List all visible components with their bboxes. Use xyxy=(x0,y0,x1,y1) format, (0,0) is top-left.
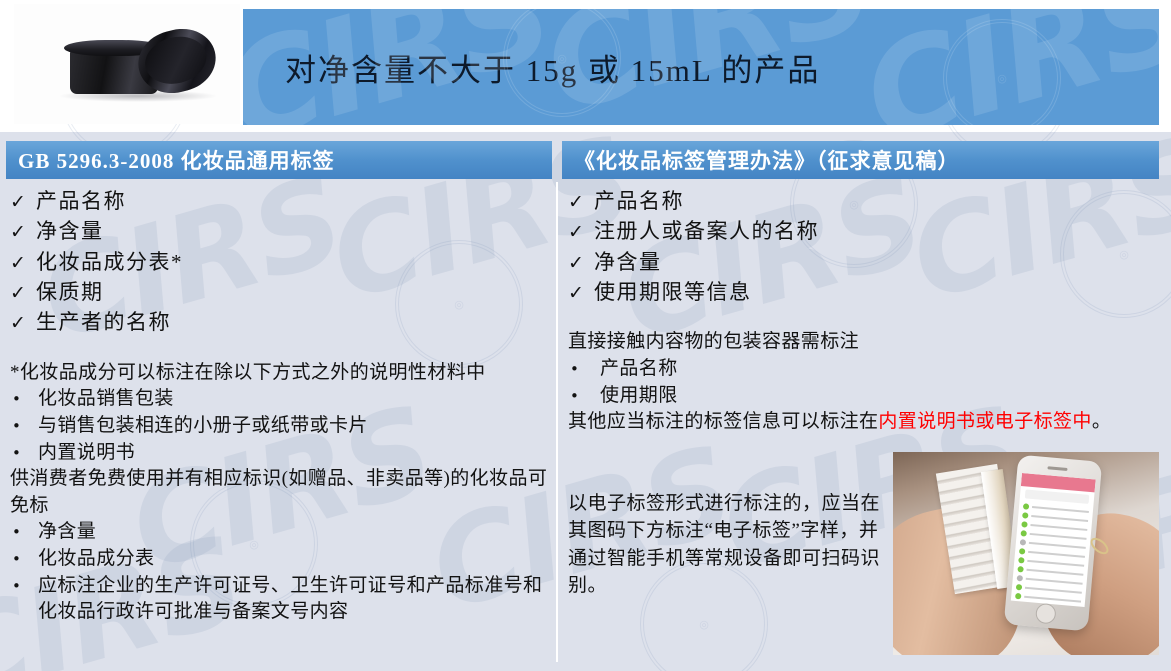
right-other-info-prefix: 其他应当标注的标签信息可以标注在 xyxy=(568,411,878,432)
list-item-label: 产品名称 xyxy=(36,186,126,216)
list-item: • 使用期限 xyxy=(568,383,1158,410)
list-item: • 与销售包装相连的小册子或纸带或卡片 xyxy=(10,413,550,440)
left-note-bullets: • 化妆品销售包装 • 与销售包装相连的小册子或纸带或卡片 • 内置说明书 xyxy=(10,386,550,466)
list-item: ✓ 化妆品成分表* xyxy=(10,247,550,277)
left-check-list: ✓ 产品名称 ✓ 净含量 ✓ 化妆品成分表* ✓ 保质期 ✓ 生产者的名称 xyxy=(10,186,550,338)
bullet-icon: • xyxy=(10,443,38,464)
right-check-list: ✓ 产品名称 ✓ 注册人或备案人的名称 ✓ 净含量 ✓ 使用期限等信息 xyxy=(568,186,1158,307)
right-column-header-text: 《化妆品标签管理办法》（征求意见稿） xyxy=(562,145,960,175)
list-item: ✓ 产品名称 xyxy=(568,186,1158,216)
phone-speaker xyxy=(1047,466,1067,471)
status-dot-icon xyxy=(1019,548,1026,555)
column-divider xyxy=(556,182,558,662)
slide-root: CIRS CIRS CIRS CIRS CIRS CIRS CIRS CIRS … xyxy=(0,0,1171,671)
check-icon: ✓ xyxy=(568,189,594,216)
right-other-info-highlight: 内置说明书或电子标签中 xyxy=(878,411,1091,432)
phone-screen xyxy=(1011,473,1096,607)
check-icon: ✓ xyxy=(10,280,36,307)
list-item-label: 内置说明书 xyxy=(38,440,550,467)
check-icon: ✓ xyxy=(568,219,594,246)
check-icon: ✓ xyxy=(10,219,36,246)
status-dot-icon xyxy=(1014,601,1021,607)
list-item-label: 与销售包装相连的小册子或纸带或卡片 xyxy=(38,413,550,440)
list-item-label: 使用期限等信息 xyxy=(594,277,752,307)
status-dot-icon xyxy=(1018,557,1025,564)
bullet-icon: • xyxy=(10,549,38,570)
left-exempt-intro: 供消费者免费使用并有相应标识(如赠品、非卖品等)的化妆品可免标 xyxy=(10,466,550,519)
right-column-body: ✓ 产品名称 ✓ 注册人或备案人的名称 ✓ 净含量 ✓ 使用期限等信息 直接接触… xyxy=(568,186,1158,436)
list-item: ✓ 生产者的名称 xyxy=(10,307,550,337)
page-title: 对净含量不大于 15g 或 15mL 的产品 xyxy=(243,45,820,90)
list-item-label: 应标注企业的生产许可证号、卫生许可证号和产品标准号和化妆品行政许可批准与备案文号… xyxy=(38,573,550,626)
phone-scan-photo xyxy=(893,452,1159,655)
check-icon: ✓ xyxy=(10,250,36,277)
list-item-label: 注册人或备案人的名称 xyxy=(594,216,819,246)
list-item: • 化妆品销售包装 xyxy=(10,386,550,413)
left-exempt-bullets: • 净含量 • 化妆品成分表 • 应标注企业的生产许可证号、卫生许可证号和产品标… xyxy=(10,519,550,625)
title-banner: CIRS CIRS CIRS ◎ ◎ 对净含量不大于 15g 或 15mL 的产… xyxy=(243,9,1159,125)
right-other-info-line: 其他应当标注的标签信息可以标注在内置说明书或电子标签中。 xyxy=(568,409,1158,436)
watermark-seal-icon: ◎ xyxy=(943,19,1061,125)
list-item-label: 产品名称 xyxy=(600,356,1158,383)
list-item-label: 化妆品销售包装 xyxy=(38,386,550,413)
status-dot-icon xyxy=(1016,583,1023,590)
header-area: CIRS CIRS CIRS ◎ ◎ 对净含量不大于 15g 或 15mL 的产… xyxy=(0,0,1171,130)
status-dot-icon xyxy=(1023,503,1030,510)
left-column-body: ✓ 产品名称 ✓ 净含量 ✓ 化妆品成分表* ✓ 保质期 ✓ 生产者的名称 *化… xyxy=(10,186,550,626)
list-item-label: 净含量 xyxy=(38,519,550,546)
bullet-icon: • xyxy=(10,389,38,410)
list-item: ✓ 使用期限等信息 xyxy=(568,277,1158,307)
list-item: ✓ 净含量 xyxy=(568,247,1158,277)
bullet-icon: • xyxy=(10,416,38,437)
smartphone xyxy=(1004,455,1102,632)
status-dot-icon xyxy=(1015,592,1022,599)
list-item: • 产品名称 xyxy=(568,356,1158,383)
check-icon: ✓ xyxy=(10,310,36,337)
right-other-info-suffix: 。 xyxy=(1092,411,1111,432)
list-item: ✓ 净含量 xyxy=(10,216,550,246)
check-icon: ✓ xyxy=(568,250,594,277)
status-dot-icon xyxy=(1017,574,1024,581)
electronic-label-paragraph: 以电子标签形式进行标注的，应当在其图码下方标注“电子标签”字样，并通过智能手机等… xyxy=(568,490,888,599)
list-item: ✓ 注册人或备案人的名称 xyxy=(568,216,1158,246)
bullet-icon: • xyxy=(568,359,600,380)
check-icon: ✓ xyxy=(10,189,36,216)
list-item-label: 生产者的名称 xyxy=(36,307,171,337)
list-item-label: 保质期 xyxy=(36,277,104,307)
bullet-icon: • xyxy=(10,522,38,543)
product-photo xyxy=(14,4,240,124)
right-contact-bullets: • 产品名称 • 使用期限 xyxy=(568,356,1158,409)
list-item-label: 化妆品成分表* xyxy=(36,247,183,277)
check-icon: ✓ xyxy=(568,280,594,307)
list-item-label: 净含量 xyxy=(594,247,662,277)
right-column-header: 《化妆品标签管理办法》（征求意见稿） xyxy=(562,141,1159,179)
list-item: • 内置说明书 xyxy=(10,440,550,467)
bullet-icon: • xyxy=(10,576,38,597)
left-note-intro: *化妆品成分可以标注在除以下方式之外的说明性材料中 xyxy=(10,360,550,387)
list-item-label: 产品名称 xyxy=(594,186,684,216)
list-item: ✓ 产品名称 xyxy=(10,186,550,216)
left-column-header-text: GB 5296.3-2008 化妆品通用标签 xyxy=(6,145,335,175)
list-item: • 净含量 xyxy=(10,519,550,546)
status-dot-icon xyxy=(1017,566,1024,573)
status-dot-icon xyxy=(1021,521,1028,528)
status-dot-icon xyxy=(1022,512,1029,519)
list-item: • 应标注企业的生产许可证号、卫生许可证号和产品标准号和化妆品行政许可批准与备案… xyxy=(10,573,550,626)
status-dot-icon xyxy=(1021,530,1028,537)
right-contact-intro: 直接接触内容物的包装容器需标注 xyxy=(568,329,1158,356)
list-item-label: 化妆品成分表 xyxy=(38,546,550,573)
list-item: ✓ 保质期 xyxy=(10,277,550,307)
list-item: • 化妆品成分表 xyxy=(10,546,550,573)
watermark-cirs: CIRS xyxy=(851,9,1159,125)
status-dot-icon xyxy=(1020,539,1027,546)
list-item-label: 净含量 xyxy=(36,216,104,246)
phone-home-button xyxy=(1035,603,1057,625)
left-column-header: GB 5296.3-2008 化妆品通用标签 xyxy=(6,141,552,179)
bullet-icon: • xyxy=(568,386,600,407)
list-item-label: 使用期限 xyxy=(600,383,1158,410)
